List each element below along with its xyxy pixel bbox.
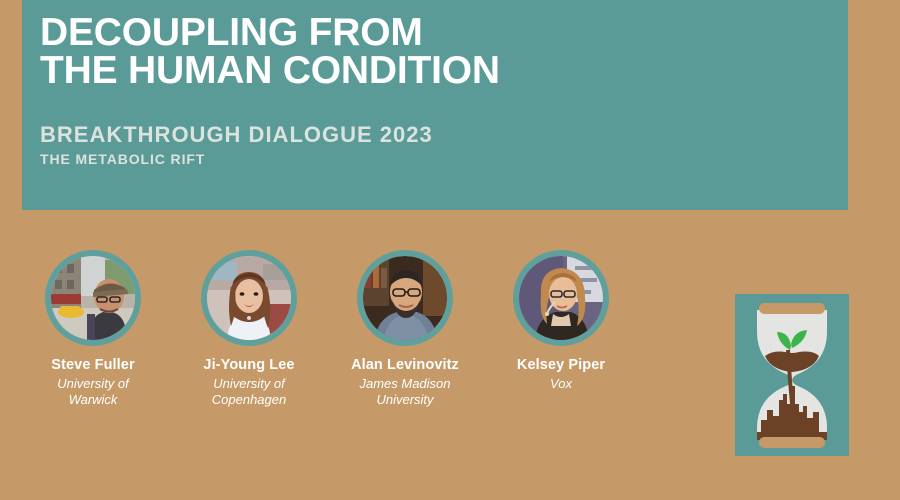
avatar <box>45 250 141 346</box>
presentation-slide: DECOUPLING FROM THE HUMAN CONDITION BREA… <box>0 0 900 500</box>
header-panel: DECOUPLING FROM THE HUMAN CONDITION BREA… <box>22 0 848 210</box>
speaker-name: Ji-Young Lee <box>203 357 294 374</box>
speaker-affiliation: University of Copenhagen <box>189 376 309 409</box>
speaker-name: Steve Fuller <box>51 357 134 374</box>
list-item: Steve Fuller University of Warwick <box>18 250 168 408</box>
logo-panel <box>735 294 849 456</box>
list-item: Alan Levinovitz James Madison University <box>330 250 480 408</box>
speaker-photo-steve-fuller <box>51 256 135 340</box>
list-item: Ji-Young Lee University of Copenhagen <box>174 250 324 408</box>
speaker-affiliation: University of Warwick <box>33 376 153 409</box>
hourglass-seedling-logo-icon <box>735 294 849 456</box>
speaker-photo-ji-young-lee <box>207 256 291 340</box>
speaker-list: Steve Fuller University of Warwick <box>18 250 678 408</box>
page-title: DECOUPLING FROM THE HUMAN CONDITION <box>40 14 740 90</box>
event-name: BREAKTHROUGH DIALOGUE 2023 <box>40 122 433 147</box>
avatar <box>513 250 609 346</box>
speaker-photo-kelsey-piper <box>519 256 603 340</box>
portrait-illustration <box>51 256 135 340</box>
subtitle-block: BREAKTHROUGH DIALOGUE 2023 THE METABOLIC… <box>40 122 433 167</box>
list-item: Kelsey Piper Vox <box>486 250 636 392</box>
event-theme: THE METABOLIC RIFT <box>40 151 433 167</box>
portrait-illustration <box>207 256 291 340</box>
portrait-illustration <box>363 256 447 340</box>
speaker-name: Alan Levinovitz <box>351 357 459 374</box>
avatar <box>357 250 453 346</box>
speaker-affiliation: Vox <box>550 376 572 392</box>
avatar <box>201 250 297 346</box>
speaker-affiliation: James Madison University <box>345 376 465 409</box>
speaker-photo-alan-levinovitz <box>363 256 447 340</box>
title-block: DECOUPLING FROM THE HUMAN CONDITION <box>40 14 740 90</box>
portrait-illustration <box>519 256 603 340</box>
speaker-name: Kelsey Piper <box>517 357 605 374</box>
